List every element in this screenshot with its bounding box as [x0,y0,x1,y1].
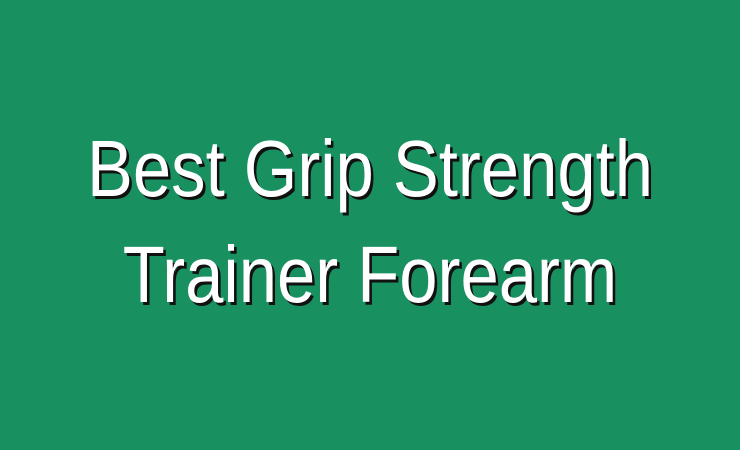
page-title: Best Grip Strength Trainer Forearm [0,114,740,330]
title-banner: Best Grip Strength Trainer Forearm [0,0,740,450]
title-line-2: Trainer Forearm [52,220,688,330]
title-line-1: Best Grip Strength [52,114,688,224]
